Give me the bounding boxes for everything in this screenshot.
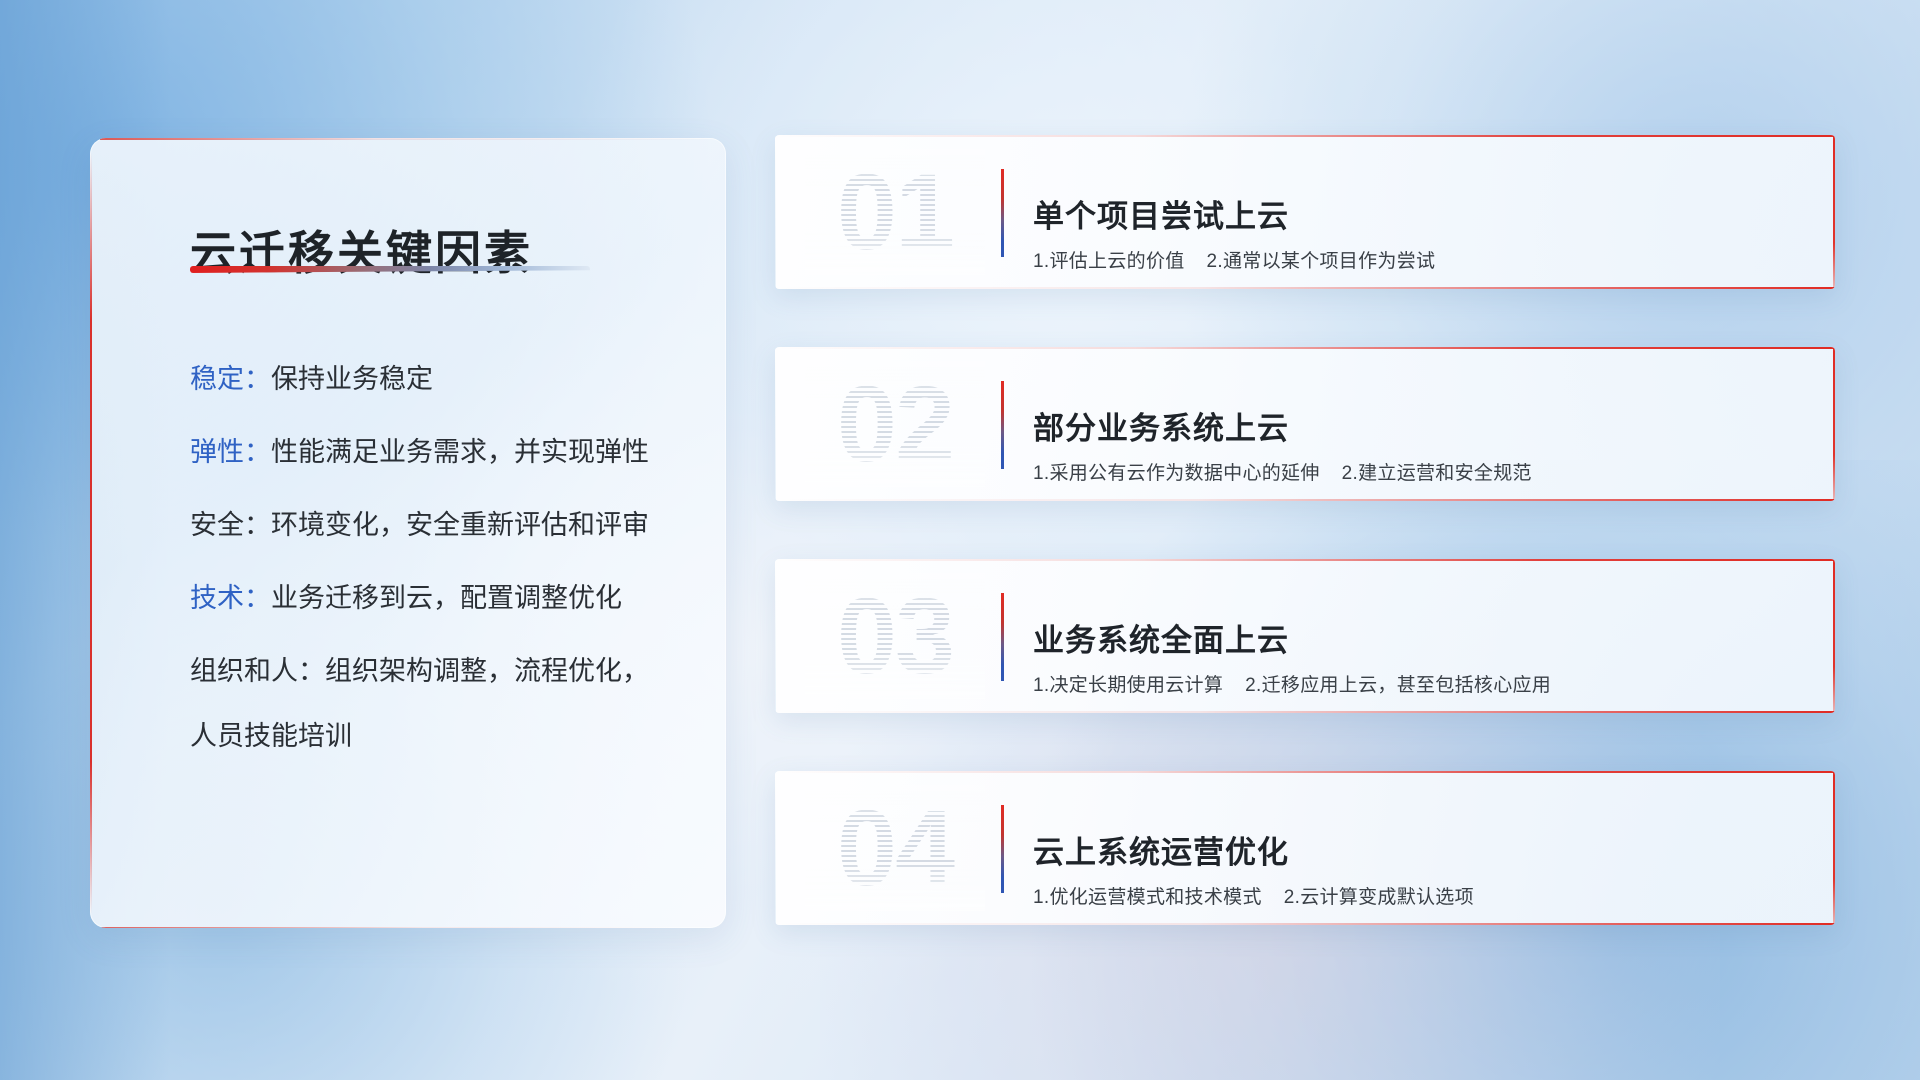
card-bottom-accent — [775, 923, 1835, 925]
list-item: 技术：业务迁移到云，配置调整优化 — [190, 585, 684, 612]
card-left-edge — [775, 559, 776, 713]
card-top-accent — [775, 771, 1835, 773]
card-divider-bar — [1001, 805, 1004, 893]
list-item: 弹性：性能满足业务需求，并实现弹性 — [190, 439, 684, 466]
card-description: 1.优化运营模式和技术模式2.云计算变成默认选项 — [1033, 882, 1474, 909]
card-bottom-accent — [775, 711, 1835, 713]
list-item-text: 组织架构调整，流程优化， — [325, 656, 649, 686]
list-item-label: 组织和人： — [190, 656, 325, 686]
card-description-part-2: 2.通常以某个项目作为尝试 — [1207, 251, 1436, 272]
card-right-accent — [1833, 771, 1835, 925]
slide-stage: 云迁移关键因素 稳定：保持业务稳定 弹性：性能满足业务需求，并实现弹性 安全：环… — [0, 0, 1920, 1080]
list-item-label: 稳定： — [190, 364, 271, 394]
card-right-accent — [1833, 559, 1835, 713]
card-description: 1.评估上云的价值2.通常以某个项目作为尝试 — [1033, 246, 1435, 273]
card-top-accent — [775, 559, 1835, 561]
card-title: 单个项目尝试上云 — [1033, 191, 1289, 236]
card-divider-bar — [1001, 593, 1004, 681]
card-number-watermark: 04 — [805, 785, 985, 911]
stage-card-04[interactable]: 04 云上系统运营优化 1.优化运营模式和技术模式2.云计算变成默认选项 — [775, 771, 1835, 925]
list-item: 稳定：保持业务稳定 — [190, 366, 684, 393]
list-item: 组织和人：组织架构调整，流程优化， — [190, 658, 684, 685]
card-top-accent — [775, 135, 1835, 137]
list-item-label: 技术： — [190, 583, 271, 613]
list-item-text: 性能满足业务需求，并实现弹性 — [271, 437, 649, 467]
list-item-text: 环境变化，安全重新评估和评审 — [271, 510, 649, 540]
card-bottom-accent — [775, 287, 1835, 289]
card-description-part-2: 2.迁移应用上云，甚至包括核心应用 — [1245, 675, 1551, 696]
card-description-part-1: 1.优化运营模式和技术模式 — [1033, 887, 1262, 908]
card-top-accent — [775, 347, 1835, 349]
list-item-text: 保持业务稳定 — [271, 364, 433, 394]
card-right-accent — [1833, 135, 1835, 289]
list-item: 安全：环境变化，安全重新评估和评审 — [190, 512, 684, 539]
key-factors-list: 稳定：保持业务稳定 弹性：性能满足业务需求，并实现弹性 安全：环境变化，安全重新… — [190, 366, 684, 750]
card-left-edge — [775, 347, 776, 501]
card-title: 云上系统运营优化 — [1033, 827, 1289, 872]
card-description-part-1: 1.评估上云的价值 — [1033, 251, 1185, 272]
stage-card-01[interactable]: 01 单个项目尝试上云 1.评估上云的价值2.通常以某个项目作为尝试 — [775, 135, 1835, 289]
card-number-watermark: 03 — [805, 573, 985, 699]
list-item-continuation: 人员技能培训 — [190, 723, 684, 750]
card-description-part-1: 1.决定长期使用云计算 — [1033, 675, 1223, 696]
card-title: 部分业务系统上云 — [1033, 403, 1289, 448]
card-description-part-1: 1.采用公有云作为数据中心的延伸 — [1033, 463, 1320, 484]
migration-stage-cards: 01 单个项目尝试上云 1.评估上云的价值2.通常以某个项目作为尝试 02 部分… — [775, 135, 1835, 925]
card-divider-bar — [1001, 381, 1004, 469]
panel-left-accent-bar — [90, 152, 92, 914]
card-right-accent — [1833, 347, 1835, 501]
stage-card-03[interactable]: 03 业务系统全面上云 1.决定长期使用云计算2.迁移应用上云，甚至包括核心应用 — [775, 559, 1835, 713]
panel-bottom-accent-line — [100, 927, 686, 929]
panel-top-accent-line — [100, 138, 712, 140]
card-description: 1.采用公有云作为数据中心的延伸2.建立运营和安全规范 — [1033, 458, 1532, 485]
key-factors-panel: 云迁移关键因素 稳定：保持业务稳定 弹性：性能满足业务需求，并实现弹性 安全：环… — [90, 138, 726, 928]
list-item-label: 弹性： — [190, 437, 271, 467]
card-left-edge — [775, 135, 776, 289]
card-number-watermark: 02 — [805, 361, 985, 487]
list-item-text: 业务迁移到云，配置调整优化 — [271, 583, 622, 613]
card-description-part-2: 2.云计算变成默认选项 — [1284, 887, 1474, 908]
stage-card-02[interactable]: 02 部分业务系统上云 1.采用公有云作为数据中心的延伸2.建立运营和安全规范 — [775, 347, 1835, 501]
card-title: 业务系统全面上云 — [1033, 615, 1289, 660]
card-description-part-2: 2.建立运营和安全规范 — [1342, 463, 1532, 484]
card-number-watermark: 01 — [805, 149, 985, 275]
panel-title: 云迁移关键因素 — [190, 217, 533, 283]
card-bottom-accent — [775, 499, 1835, 501]
card-left-edge — [775, 771, 776, 925]
card-description: 1.决定长期使用云计算2.迁移应用上云，甚至包括核心应用 — [1033, 670, 1551, 697]
card-divider-bar — [1001, 169, 1004, 257]
list-item-label: 安全： — [190, 510, 271, 540]
